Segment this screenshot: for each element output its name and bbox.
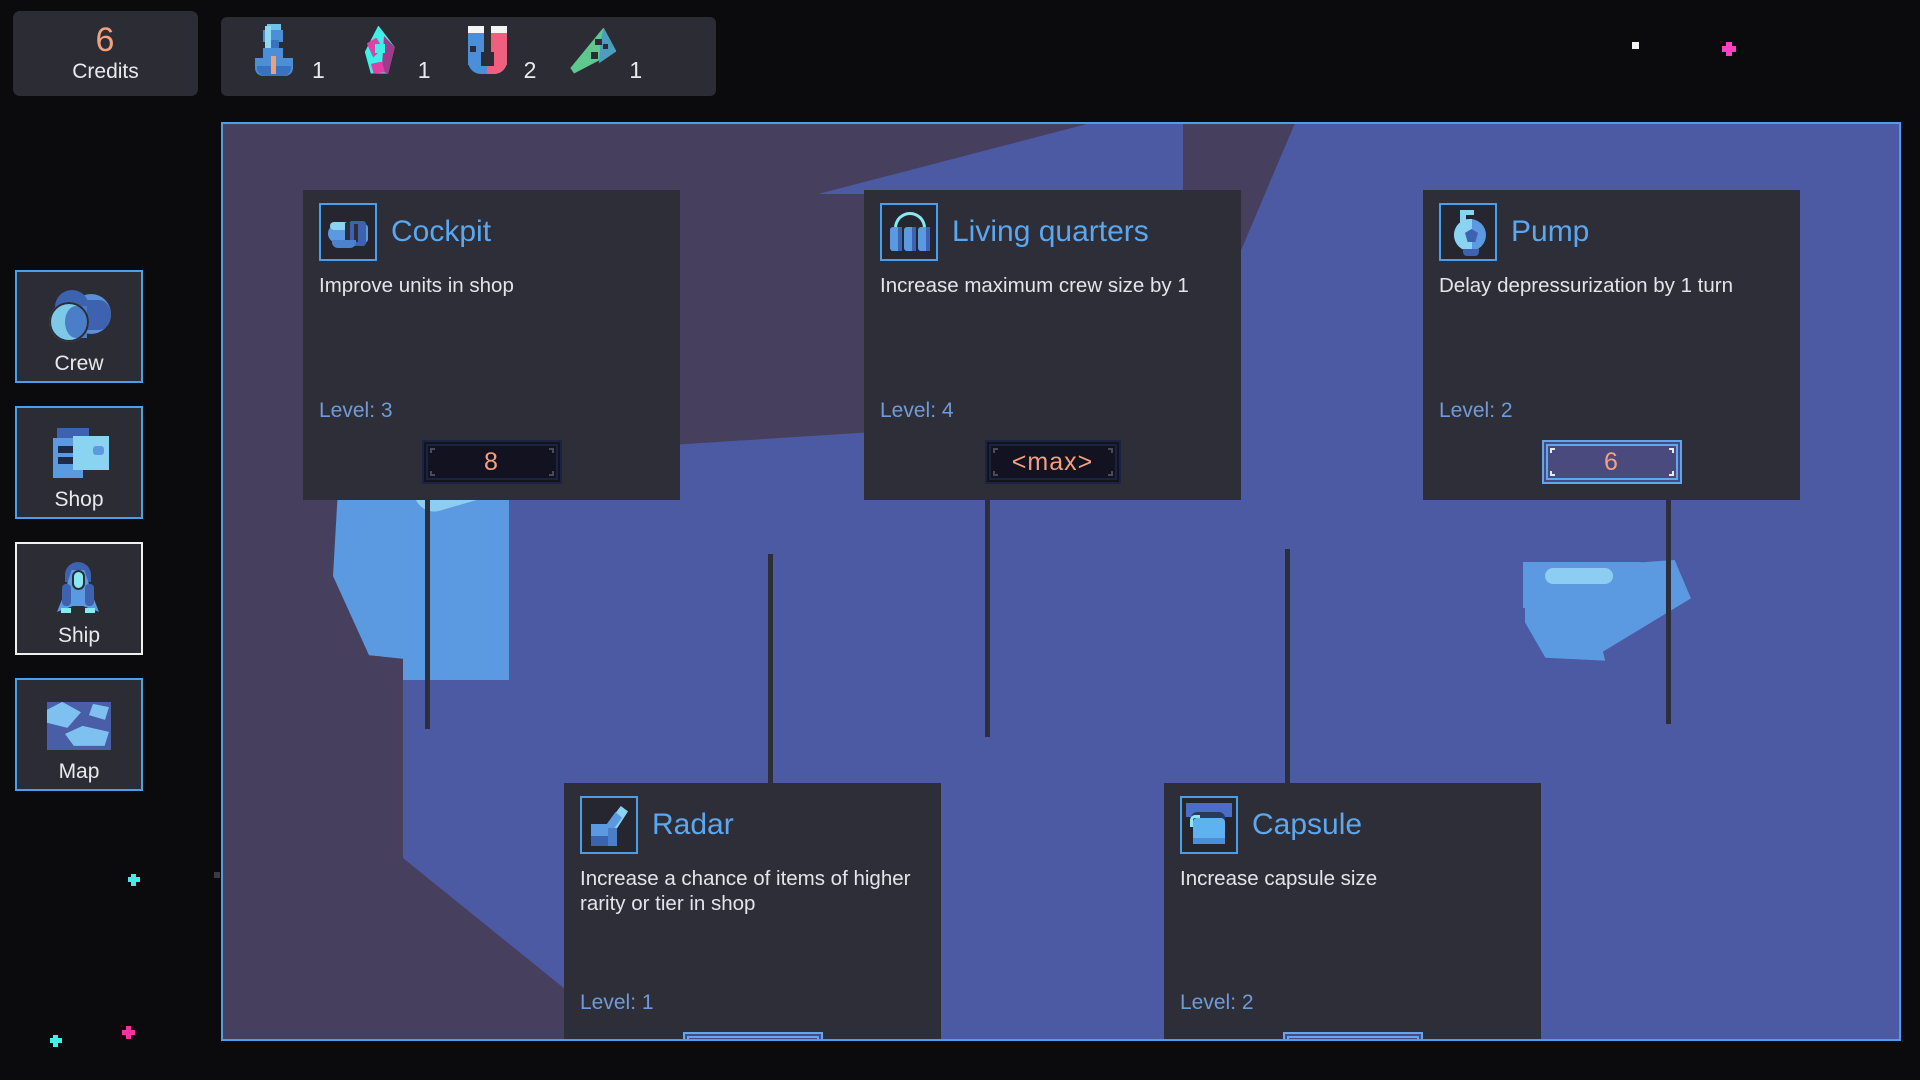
card-title: Pump bbox=[1511, 217, 1589, 247]
connector-stem bbox=[985, 484, 990, 737]
upgrade-card-capsule[interactable]: Capsule Increase capsule size Level: 2 6 bbox=[1164, 783, 1541, 1041]
resource-item[interactable]: 1 bbox=[562, 17, 644, 96]
sidebar-item-shop[interactable]: Shop bbox=[15, 406, 143, 519]
card-description: Increase maximum crew size by 1 bbox=[880, 273, 1225, 298]
card-description: Delay depressurization by 1 turn bbox=[1439, 273, 1784, 298]
credits-label: Credits bbox=[72, 60, 139, 84]
card-description: Improve units in shop bbox=[319, 273, 664, 298]
resource-count: 2 bbox=[524, 57, 537, 84]
card-price-row: 4 bbox=[580, 1032, 925, 1041]
card-title: Cockpit bbox=[391, 217, 491, 247]
price-label: 6 bbox=[1345, 1040, 1360, 1042]
ship-map-panel: Cockpit Improve units in shop Level: 3 8 bbox=[221, 122, 1901, 1041]
sidebar-item-label: Crew bbox=[54, 352, 103, 375]
connector-stem bbox=[768, 554, 773, 784]
credits-value: 6 bbox=[96, 23, 116, 57]
price-label: <max> bbox=[1012, 448, 1093, 477]
card-price-row: <max> bbox=[880, 440, 1225, 484]
card-header: Cockpit bbox=[319, 204, 664, 260]
sidebar-item-map[interactable]: Map bbox=[15, 678, 143, 791]
crew-spheres-icon bbox=[43, 288, 115, 350]
game-screen: 6 Credits 1 bbox=[0, 0, 1920, 1080]
card-level: Level: 3 bbox=[319, 399, 664, 423]
connector-stem bbox=[1666, 484, 1671, 724]
card-title: Radar bbox=[652, 810, 734, 840]
resource-count: 1 bbox=[418, 57, 431, 84]
upgrade-card-pump[interactable]: Pump Delay depressurization by 1 turn Le… bbox=[1423, 190, 1800, 500]
ship-icon bbox=[43, 560, 115, 622]
card-title: Capsule bbox=[1252, 810, 1362, 840]
sidebar-item-label: Ship bbox=[58, 624, 100, 647]
green-triangle-gem-icon bbox=[564, 22, 620, 84]
card-header: Pump bbox=[1439, 204, 1784, 260]
upgrade-buy-button[interactable]: 6 bbox=[1283, 1032, 1423, 1041]
shop-crates-icon bbox=[43, 424, 115, 486]
sidebar-item-label: Map bbox=[59, 760, 100, 783]
upgrade-card-living-quarters[interactable]: Living quarters Increase maximum crew si… bbox=[864, 190, 1241, 500]
cockpit-icon bbox=[319, 203, 377, 261]
upgrade-buy-button[interactable]: 4 bbox=[683, 1032, 823, 1041]
cyan-magenta-shard-icon bbox=[353, 22, 409, 84]
card-level: Level: 1 bbox=[580, 991, 925, 1015]
connector-stem bbox=[425, 484, 430, 729]
star-dot bbox=[1632, 42, 1639, 49]
card-description: Increase capsule size bbox=[1180, 866, 1525, 891]
upgrade-buy-button[interactable]: 8 bbox=[422, 440, 562, 484]
map-icon bbox=[43, 696, 115, 758]
card-header: Capsule bbox=[1180, 797, 1525, 853]
resource-bar: 1 1 2 bbox=[221, 17, 716, 96]
radar-icon bbox=[580, 796, 638, 854]
resource-count: 1 bbox=[312, 57, 325, 84]
card-header: Living quarters bbox=[880, 204, 1225, 260]
sidebar-item-label: Shop bbox=[54, 488, 103, 511]
card-price-row: 6 bbox=[1180, 1032, 1525, 1041]
star-cross-magenta bbox=[1722, 42, 1736, 56]
blue-crystal-formation-icon bbox=[247, 22, 303, 84]
credits-panel: 6 Credits bbox=[13, 11, 198, 96]
resource-item[interactable]: 1 bbox=[351, 17, 433, 96]
card-level: Level: 4 bbox=[880, 399, 1225, 423]
price-label: 4 bbox=[745, 1040, 760, 1042]
card-description: Increase a chance of items of higher rar… bbox=[580, 866, 925, 916]
card-price-row: 8 bbox=[319, 440, 664, 484]
magnet-icon bbox=[459, 22, 515, 84]
star-cross-cyan bbox=[50, 1035, 62, 1047]
living-quarters-icon bbox=[880, 203, 938, 261]
sidebar-nav: Crew Shop Ship bbox=[15, 270, 145, 814]
price-label: 8 bbox=[484, 448, 499, 477]
resource-item[interactable]: 1 bbox=[245, 17, 327, 96]
card-price-row: 6 bbox=[1439, 440, 1784, 484]
connector-stem bbox=[1285, 549, 1290, 784]
upgrade-buy-button[interactable]: 6 bbox=[1542, 440, 1682, 484]
sidebar-item-crew[interactable]: Crew bbox=[15, 270, 143, 383]
card-level: Level: 2 bbox=[1439, 399, 1784, 423]
pump-icon bbox=[1439, 203, 1497, 261]
star-cross-magenta bbox=[122, 1026, 135, 1039]
upgrade-card-cockpit[interactable]: Cockpit Improve units in shop Level: 3 8 bbox=[303, 190, 680, 500]
sidebar-item-ship[interactable]: Ship bbox=[15, 542, 143, 655]
upgrade-buy-button[interactable]: <max> bbox=[985, 440, 1121, 484]
card-level: Level: 2 bbox=[1180, 991, 1525, 1015]
upgrade-card-radar[interactable]: Radar Increase a chance of items of high… bbox=[564, 783, 941, 1041]
resource-count: 1 bbox=[629, 57, 642, 84]
star-dot bbox=[214, 872, 220, 878]
card-title: Living quarters bbox=[952, 217, 1149, 247]
capsule-icon bbox=[1180, 796, 1238, 854]
price-label: 6 bbox=[1604, 448, 1619, 477]
resource-item[interactable]: 2 bbox=[457, 17, 539, 96]
star-cross-cyan bbox=[128, 874, 140, 886]
card-header: Radar bbox=[580, 797, 925, 853]
